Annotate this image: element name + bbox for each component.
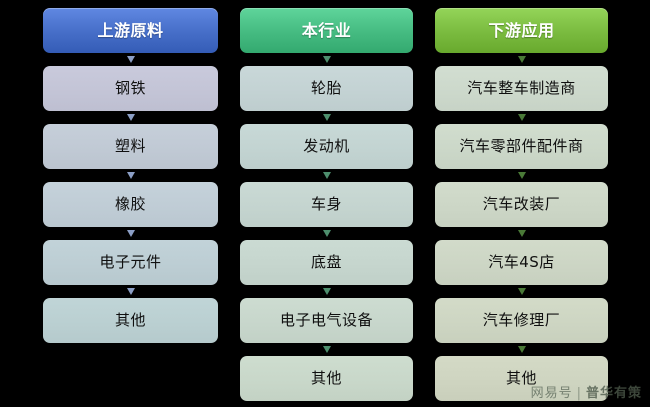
column-header-upstream: 上游原料 bbox=[43, 8, 218, 53]
connector-arrow bbox=[240, 285, 413, 298]
column-downstream: 下游应用 汽车整车制造商 汽车零部件配件商 汽车改装厂 汽车4S店 汽车修理厂 … bbox=[435, 8, 608, 401]
chevron-down-icon bbox=[127, 56, 135, 63]
watermark-brand: 普华有策 bbox=[586, 386, 642, 401]
node-downstream-4[interactable]: 汽车4S店 bbox=[435, 240, 608, 285]
node-upstream-4[interactable]: 电子元件 bbox=[43, 240, 218, 285]
node-upstream-3[interactable]: 橡胶 bbox=[43, 182, 218, 227]
chevron-down-icon bbox=[323, 56, 331, 63]
node-upstream-1[interactable]: 钢铁 bbox=[43, 66, 218, 111]
node-industry-2[interactable]: 发动机 bbox=[240, 124, 413, 169]
chevron-down-icon bbox=[323, 114, 331, 121]
connector-arrow bbox=[43, 169, 218, 182]
chevron-down-icon bbox=[518, 288, 526, 295]
node-downstream-2[interactable]: 汽车零部件配件商 bbox=[435, 124, 608, 169]
chevron-down-icon bbox=[518, 114, 526, 121]
chevron-down-icon bbox=[127, 288, 135, 295]
chevron-down-icon bbox=[127, 114, 135, 121]
connector-arrow bbox=[240, 227, 413, 240]
connector-arrow bbox=[43, 285, 218, 298]
chevron-down-icon bbox=[518, 230, 526, 237]
connector-arrow bbox=[435, 343, 608, 356]
connector-arrow bbox=[435, 285, 608, 298]
connector-arrow bbox=[240, 169, 413, 182]
watermark-source: 网易号 bbox=[531, 386, 573, 401]
node-downstream-5[interactable]: 汽车修理厂 bbox=[435, 298, 608, 343]
node-industry-3[interactable]: 车身 bbox=[240, 182, 413, 227]
node-industry-6[interactable]: 其他 bbox=[240, 356, 413, 401]
chevron-down-icon bbox=[323, 172, 331, 179]
connector-arrow bbox=[435, 111, 608, 124]
connector-arrow bbox=[240, 111, 413, 124]
node-upstream-5[interactable]: 其他 bbox=[43, 298, 218, 343]
chevron-down-icon bbox=[127, 172, 135, 179]
column-industry: 本行业 轮胎 发动机 车身 底盘 电子电气设备 其他 bbox=[240, 8, 413, 401]
connector-arrow bbox=[435, 169, 608, 182]
node-industry-5[interactable]: 电子电气设备 bbox=[240, 298, 413, 343]
column-header-downstream: 下游应用 bbox=[435, 8, 608, 53]
chevron-down-icon bbox=[127, 230, 135, 237]
chevron-down-icon bbox=[323, 288, 331, 295]
connector-arrow bbox=[435, 53, 608, 66]
watermark-separator: | bbox=[577, 386, 582, 401]
watermark: 网易号|普华有策 bbox=[531, 382, 642, 401]
connector-arrow bbox=[435, 227, 608, 240]
chevron-down-icon bbox=[323, 230, 331, 237]
connector-arrow bbox=[43, 111, 218, 124]
value-chain-diagram: 上游原料 钢铁 塑料 橡胶 电子元件 其他 本行业 轮胎 发动机 车身 底盘 电… bbox=[0, 0, 650, 407]
column-upstream: 上游原料 钢铁 塑料 橡胶 电子元件 其他 bbox=[43, 8, 218, 343]
connector-arrow bbox=[240, 53, 413, 66]
node-downstream-3[interactable]: 汽车改装厂 bbox=[435, 182, 608, 227]
chevron-down-icon bbox=[518, 172, 526, 179]
connector-arrow bbox=[240, 343, 413, 356]
chevron-down-icon bbox=[518, 56, 526, 63]
connector-arrow bbox=[43, 53, 218, 66]
chevron-down-icon bbox=[518, 346, 526, 353]
node-industry-1[interactable]: 轮胎 bbox=[240, 66, 413, 111]
column-header-industry: 本行业 bbox=[240, 8, 413, 53]
node-upstream-2[interactable]: 塑料 bbox=[43, 124, 218, 169]
node-industry-4[interactable]: 底盘 bbox=[240, 240, 413, 285]
node-downstream-1[interactable]: 汽车整车制造商 bbox=[435, 66, 608, 111]
connector-arrow bbox=[43, 227, 218, 240]
chevron-down-icon bbox=[323, 346, 331, 353]
